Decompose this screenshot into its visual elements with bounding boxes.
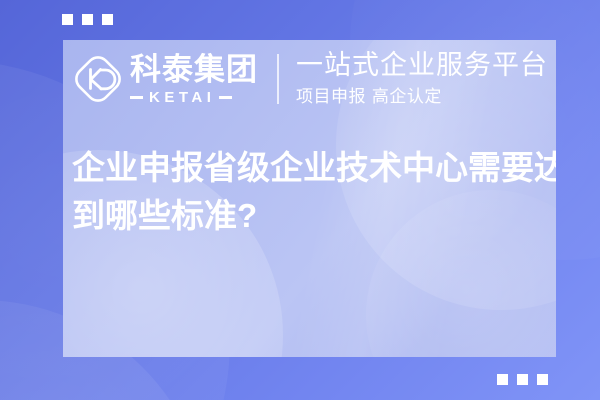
ketai-diamond-monogram-icon — [72, 53, 124, 105]
tagline-sub: 项目申报 高企认定 — [296, 87, 556, 107]
decorative-square — [497, 374, 508, 385]
page-title: 企业申报省级企业技术中心需要达到哪些标准? — [72, 144, 556, 240]
wordmark-rule-right — [219, 96, 232, 99]
tagline-main: 一站式企业服务平台 — [296, 51, 556, 81]
poster-canvas: 科泰集团 KETAI 一站式企业服务平台 项目申报 高企认定 企业申报省级企业技… — [0, 0, 600, 400]
decorative-square — [517, 374, 528, 385]
content-card: 科泰集团 KETAI 一站式企业服务平台 项目申报 高企认定 企业申报省级企业技… — [63, 40, 556, 357]
brand-name-cn: 科泰集团 — [130, 54, 258, 85]
header-divider — [277, 54, 279, 104]
decorative-square — [62, 14, 73, 25]
brand-logo[interactable]: 科泰集团 KETAI — [72, 53, 258, 105]
decorative-square — [82, 14, 93, 25]
decorative-square — [537, 374, 548, 385]
wordmark-rule-left — [130, 96, 143, 99]
decorative-square — [102, 14, 113, 25]
decorative-squares-top-left — [62, 14, 113, 25]
decorative-squares-bottom-right — [497, 374, 548, 385]
tagline-block: 一站式企业服务平台 项目申报 高企认定 — [296, 51, 556, 108]
brand-name-en-row: KETAI — [130, 90, 258, 105]
brand-wordmark: 科泰集团 KETAI — [130, 54, 258, 105]
brand-header: 科泰集团 KETAI 一站式企业服务平台 项目申报 高企认定 — [63, 40, 556, 118]
brand-name-en: KETAI — [149, 90, 215, 105]
